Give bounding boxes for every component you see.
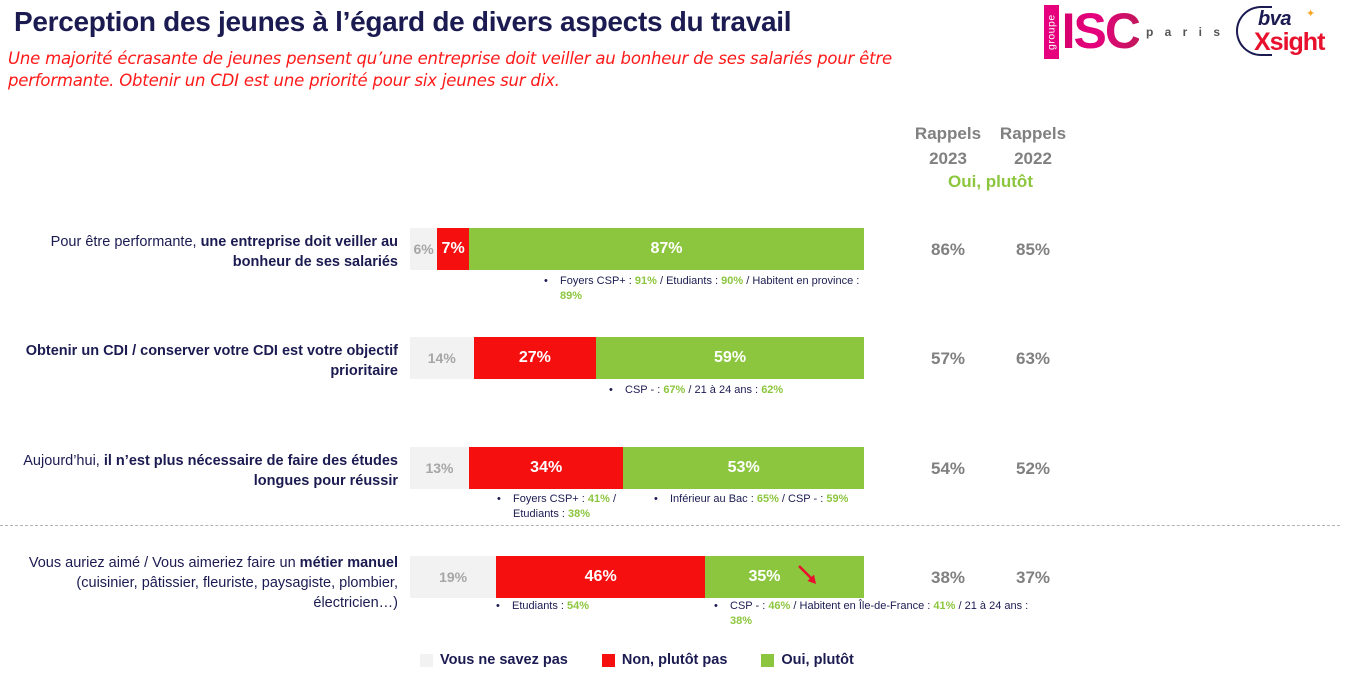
annotation-value: 67% [663,384,685,396]
chart-legend: Vous ne savez pasNon, plutôt pasOui, plu… [420,652,854,668]
section-divider [0,525,1340,526]
bullet-icon: • [654,492,658,507]
annotation-value: 90% [721,275,743,287]
bar-segment-nsp-value: 6% [414,241,434,257]
row-annotation: •CSP - : 46% / Habitent en Île-de-France… [730,599,1030,629]
isc-paris-logo: groupe ISC p a r i s [1044,5,1224,59]
annotation-text: / Habitent en Île-de-France : [790,600,933,612]
isc-groupe-label: groupe [1044,5,1059,59]
bullet-icon: • [609,383,613,398]
bar-segment-non-value: 7% [442,240,465,258]
annotation-value: 41% [588,493,610,505]
row-annotation: •Inférieur au Bac : 65% / CSP - : 59% [670,492,890,507]
legend-swatch-no [602,654,615,667]
bar-segment-nsp[interactable]: 19% [410,556,496,598]
column-header-2022-line1: Rappels [985,121,1081,146]
row-label: Obtenir un CDI / conserver votre CDI est… [10,341,398,381]
bar-segment-non[interactable]: 46% [496,556,705,598]
bar-segment-non[interactable]: 7% [437,228,469,270]
bar-segment-nsp-value: 19% [439,569,467,585]
stacked-bar[interactable]: 14%27%59% [410,337,864,379]
logo-group: groupe ISC p a r i s bva ✦ Xsight [1044,4,1351,60]
row-annotation: •CSP - : 67% / 21 à 24 ans : 62% [625,383,865,398]
row-annotation: •Etudiants : 54% [512,599,712,614]
bar-segment-oui-value: 87% [650,240,682,258]
annotation-value: 59% [826,493,848,505]
annotation-text: Foyers CSP+ : [560,275,635,287]
annotation-value: 89% [560,290,582,302]
annotation-text: Inférieur au Bac : [670,493,757,505]
isc-paris-label: p a r i s [1146,25,1224,39]
recall-2023-value: 86% [900,240,996,260]
page-title: Perception des jeunes à l’égard de diver… [14,6,791,38]
legend-label-nsp: Vous ne savez pas [440,652,568,668]
bar-segment-oui-value: 53% [728,459,760,477]
recall-2022-value: 52% [985,459,1081,479]
annotation-text: / 21 à 24 ans : [955,600,1028,612]
recall-2023-value: 38% [900,568,996,588]
bar-segment-oui[interactable]: 87% [469,228,864,270]
recall-2022-value: 63% [985,349,1081,369]
annotation-value: 38% [568,508,590,520]
column-header-2022: Rappels 2022 [985,121,1081,171]
row-label: Pour être performante, une entreprise do… [10,232,398,272]
annotation-value: 54% [567,600,589,612]
legend-label-yes: Oui, plutôt [781,652,853,668]
stacked-bar[interactable]: 13%34%53% [410,447,864,489]
bullet-icon: • [714,599,718,614]
row-label: Vous auriez aimé / Vous aimeriez faire u… [10,553,398,613]
bar-segment-non[interactable]: 27% [474,337,597,379]
recall-2023-value: 54% [900,459,996,479]
annotation-text: / Habitent en province : [743,275,859,287]
bar-segment-oui[interactable]: 59% [596,337,864,379]
column-header-2022-line2: 2022 [985,146,1081,171]
column-header-2023: Rappels 2023 [900,121,996,171]
legend-item-nsp[interactable]: Vous ne savez pas [420,652,568,668]
bar-segment-non-value: 27% [519,349,551,367]
annotation-text: / 21 à 24 ans : [685,384,761,396]
stacked-bar[interactable]: 19%46%35% [410,556,864,598]
annotation-value: 41% [933,600,955,612]
annotation-text: / CSP - : [779,493,826,505]
legend-swatch-nsp [420,654,433,667]
legend-item-no[interactable]: Non, plutôt pas [602,652,728,668]
annotation-text: CSP - : [625,384,663,396]
bullet-icon: • [497,492,501,507]
bar-segment-non-value: 46% [585,568,617,586]
annotation-text: / Etudiants : [657,275,721,287]
annotation-value: 38% [730,615,752,627]
annotation-value: 62% [761,384,783,396]
annotation-text: CSP - : [730,600,768,612]
bar-segment-nsp-value: 13% [425,460,453,476]
recall-2022-value: 85% [985,240,1081,260]
annotation-text: Foyers CSP+ : [513,493,588,505]
legend-swatch-yes [761,654,774,667]
row-annotation: •Foyers CSP+ : 41% / Etudiants : 38% [513,492,653,522]
annotation-text: Etudiants : [512,600,567,612]
annotation-value: 46% [768,600,790,612]
bar-segment-oui[interactable]: 53% [623,447,864,489]
recall-2023-value: 57% [900,349,996,369]
annotation-value: 65% [757,493,779,505]
recall-2022-value: 37% [985,568,1081,588]
bar-segment-nsp[interactable]: 14% [410,337,474,379]
bar-segment-non-value: 34% [530,459,562,477]
bullet-icon: • [496,599,500,614]
column-header-2023-line2: 2023 [900,146,996,171]
isc-letters: ISC [1059,5,1139,59]
bar-segment-oui-value: 59% [714,349,746,367]
isc-mark: groupe ISC [1044,5,1139,59]
bar-segment-oui[interactable]: 35% [705,556,864,598]
bar-segment-nsp[interactable]: 6% [410,228,437,270]
legend-label-no: Non, plutôt pas [622,652,728,668]
column-header-2023-line1: Rappels [900,121,996,146]
bar-segment-nsp-value: 14% [428,350,456,366]
bva-sparkle-icon: ✦ [1306,7,1315,20]
row-annotation: •Foyers CSP+ : 91% / Etudiants : 90% / H… [560,274,860,304]
column-subheader-oui-plutot: Oui, plutôt [900,172,1081,192]
page-subtitle: Une majorité écrasante de jeunes pensent… [8,48,988,92]
legend-item-yes[interactable]: Oui, plutôt [761,652,853,668]
trend-down-arrow-icon [795,562,821,593]
xsight-wordmark: Xsight [1254,28,1324,57]
bullet-icon: • [544,274,548,289]
bar-segment-non[interactable]: 34% [469,447,623,489]
bva-xsight-logo: bva ✦ Xsight [1236,4,1351,60]
stacked-bar[interactable]: 6%7%87% [410,228,864,270]
bar-segment-nsp[interactable]: 13% [410,447,469,489]
row-label: Aujourd’hui, il n’est plus nécessaire de… [10,451,398,491]
bar-segment-oui-value: 35% [749,568,781,586]
slide: Perception des jeunes à l’égard de diver… [0,0,1359,681]
annotation-value: 91% [635,275,657,287]
